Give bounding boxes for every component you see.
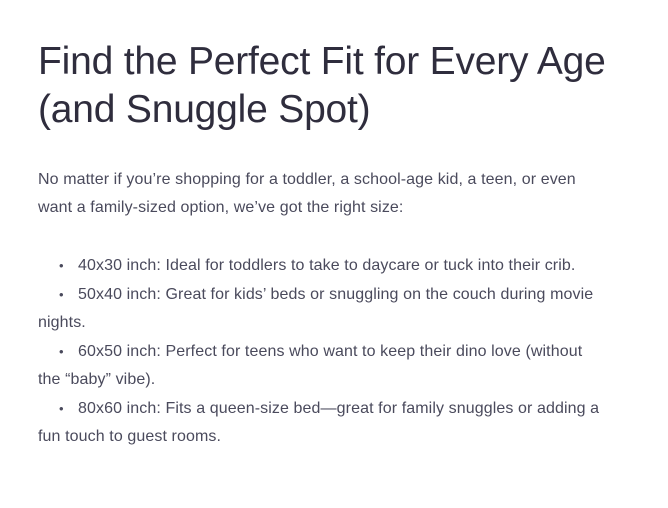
list-item-label: 50x40 inch: Great for kids’ beds or snug… — [38, 286, 593, 332]
list-item: •50x40 inch: Great for kids’ beds or snu… — [38, 281, 608, 338]
page-title: Find the Perfect Fit for Every Age (and … — [38, 0, 608, 134]
bullet-icon: • — [38, 338, 78, 367]
bullet-icon: • — [38, 395, 78, 424]
intro-paragraph: No matter if you’re shopping for a toddl… — [38, 134, 608, 222]
bullet-icon: • — [38, 281, 78, 310]
content-column: Find the Perfect Fit for Every Age (and … — [38, 0, 608, 452]
list-item: •80x60 inch: Fits a queen-size bed—great… — [38, 395, 608, 452]
list-item-label: 40x30 inch: Ideal for toddlers to take t… — [78, 257, 575, 274]
list-item-label: 80x60 inch: Fits a queen-size bed—great … — [38, 400, 599, 446]
bullet-icon: • — [38, 252, 78, 281]
list-item: •60x50 inch: Perfect for teens who want … — [38, 338, 608, 395]
size-options-list: •40x30 inch: Ideal for toddlers to take … — [38, 222, 608, 452]
list-item-label: 60x50 inch: Perfect for teens who want t… — [38, 343, 582, 389]
list-item: •40x30 inch: Ideal for toddlers to take … — [38, 252, 608, 281]
article-page: Find the Perfect Fit for Every Age (and … — [0, 0, 668, 508]
